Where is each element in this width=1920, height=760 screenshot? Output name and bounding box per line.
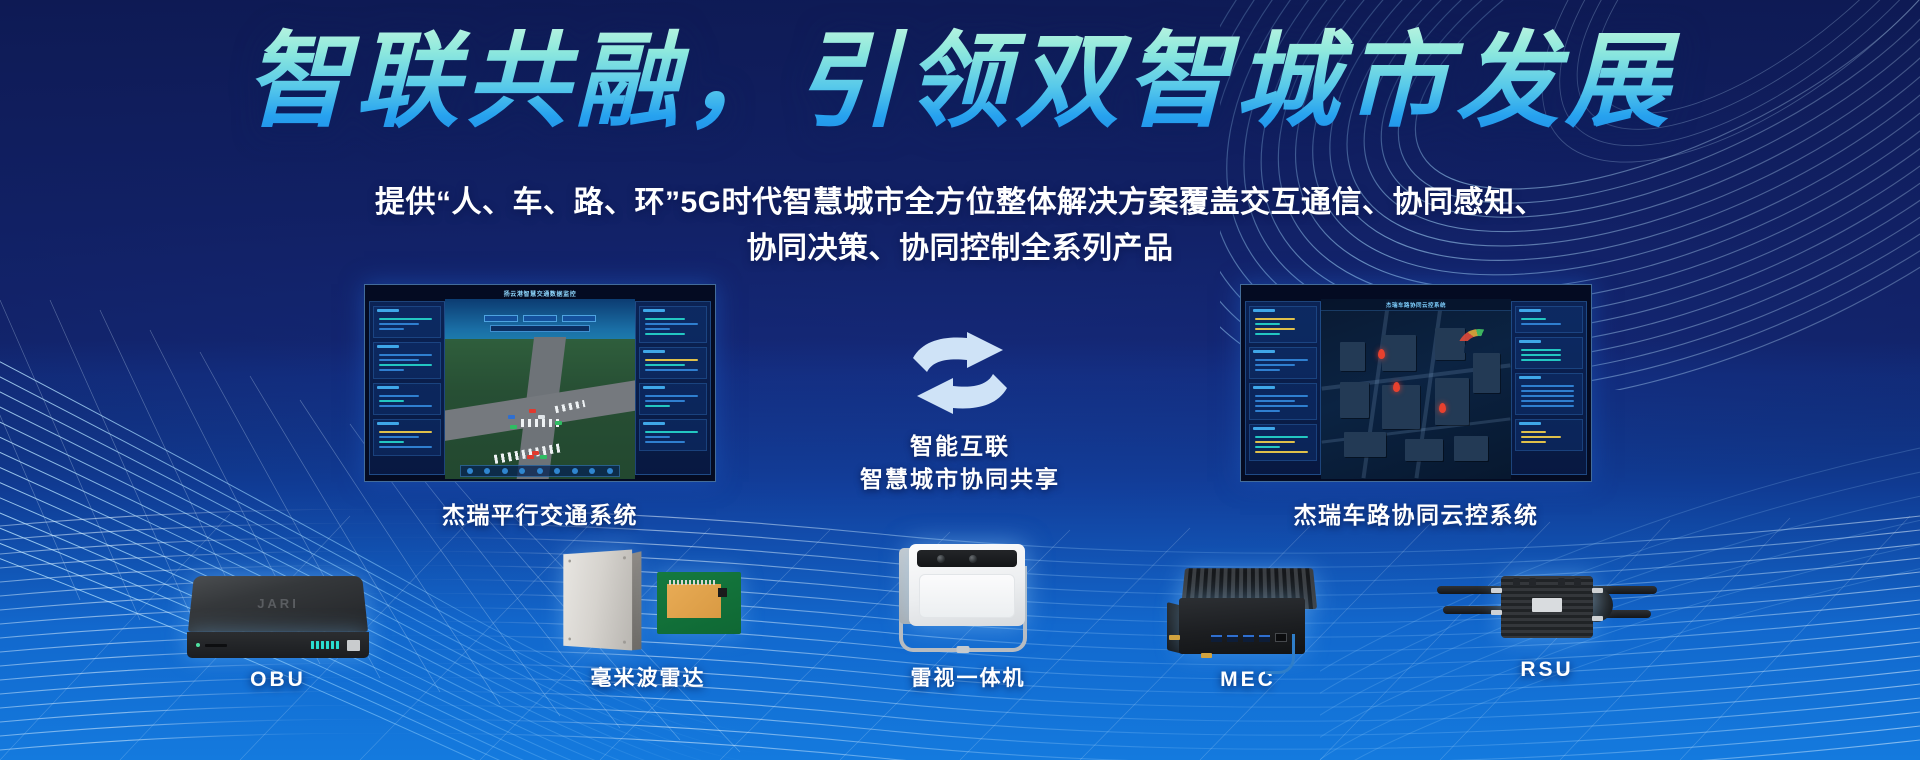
rsu-connector — [1592, 616, 1603, 621]
power-led-icon — [196, 643, 200, 647]
screenshot-parallel-traffic-system[interactable]: 扬云港智慧交通数据监控 — [364, 284, 716, 482]
sidebar-card[interactable] — [639, 306, 707, 343]
screen-toolbar[interactable] — [475, 315, 604, 341]
sim-slot — [205, 644, 227, 647]
page-title: 智联共融，引领双智城市发展 — [0, 26, 1920, 138]
dock-icon[interactable] — [467, 468, 473, 474]
map-building-block — [1344, 432, 1386, 457]
rsu-device-image — [1437, 566, 1657, 650]
radar-pcb-board — [657, 572, 741, 634]
dock-icon[interactable] — [572, 468, 578, 474]
page-subtitle: 提供“人、车、路、环”5G时代智慧城市全方位整体解决方案覆盖交互通信、协同感知、… — [260, 180, 1660, 271]
toolbar-chips[interactable] — [484, 315, 596, 322]
vehicle-marker — [555, 421, 562, 425]
chip-road-condition[interactable] — [523, 315, 557, 322]
bracket-knob — [957, 646, 970, 653]
sidebar-card[interactable] — [639, 383, 707, 415]
screen-dock-toolbar[interactable] — [460, 465, 620, 477]
banner-stage: 智联共融，引领双智城市发展 提供“人、车、路、环”5G时代智慧城市全方位整体解决… — [0, 0, 1920, 760]
obu-brand-logo: JARI — [257, 596, 299, 611]
flow-stats-card[interactable] — [1249, 424, 1317, 461]
map-building-block — [1405, 439, 1443, 461]
sidebar-card[interactable] — [639, 419, 707, 451]
mec-device-image — [1167, 564, 1329, 660]
camera-lens-icon — [969, 555, 977, 563]
product-radar-camera-unit[interactable]: 雷视一体机 — [868, 542, 1068, 692]
product-row: JARI OBU — [0, 480, 1920, 760]
dock-icon[interactable] — [519, 468, 525, 474]
intersection-3d-view — [445, 299, 635, 479]
screen-title-left: 扬云港智慧交通数据监控 — [504, 289, 577, 298]
swap-arrows-icon — [905, 332, 1015, 414]
antenna-connector-icon — [1169, 635, 1180, 640]
center-text-line-1: 智能互联 — [810, 430, 1110, 463]
assessment-card[interactable] — [1515, 306, 1583, 333]
obu-front-panel — [187, 632, 369, 658]
right-panel-left-sidebar[interactable] — [1245, 301, 1321, 475]
dock-icon[interactable] — [589, 468, 595, 474]
product-label-radar-camera: 雷视一体机 — [868, 662, 1068, 692]
product-label-obu: OBU — [178, 668, 378, 692]
radar-housing — [563, 550, 632, 651]
rsu-connector — [1491, 588, 1502, 593]
radar-camera-image — [893, 542, 1043, 654]
sidebar-card[interactable] — [373, 383, 441, 415]
screen-search-input[interactable] — [490, 325, 590, 332]
center-exchange-block: 智能互联 智慧城市协同共享 — [810, 332, 1110, 495]
usb-port-icon — [1243, 635, 1254, 642]
congestion-stats-card[interactable] — [1249, 383, 1317, 420]
screenshot-cloud-control-system[interactable]: 杰瑞车路协同云控系统 — [1240, 284, 1592, 482]
screen-topbar[interactable]: 杰瑞车路协同云控系统 — [1321, 299, 1511, 311]
chip-vehicle-status[interactable] — [562, 315, 596, 322]
rsu-label-plate — [1532, 598, 1562, 612]
map-building-block — [1454, 436, 1488, 461]
product-label-mmwave-radar: 毫米波雷达 — [548, 662, 748, 692]
usb-port-icon — [1211, 635, 1222, 642]
obu-device-image: JARI — [185, 568, 371, 660]
ethernet-port-icon — [347, 640, 360, 651]
rsu-connector — [1592, 588, 1603, 593]
map-incident-pin[interactable] — [1393, 382, 1400, 392]
sidebar-card[interactable] — [373, 419, 441, 456]
map-building-block — [1340, 382, 1369, 418]
map-incident-pin[interactable] — [1439, 403, 1446, 413]
map-building-block — [1473, 353, 1500, 393]
weather-card[interactable] — [1249, 347, 1317, 379]
mec-power-cable — [1265, 634, 1295, 674]
right-panel-right-sidebar[interactable] — [1511, 301, 1587, 475]
product-obu[interactable]: JARI OBU — [178, 568, 378, 692]
product-mec[interactable]: MEC — [1148, 564, 1348, 692]
map-building-block — [1382, 385, 1420, 428]
vehicle-marker — [510, 425, 517, 429]
city-3d-map-view: 杰瑞车路协同云控系统 — [1321, 299, 1511, 479]
rsu-enclosure — [1501, 576, 1593, 638]
map-building-block — [1435, 378, 1469, 425]
vehicle-marker — [527, 455, 534, 459]
vehicle-marker — [529, 409, 536, 413]
camera-sensor-bar — [917, 550, 1017, 567]
screen-title-right: 杰瑞车路协同云控系统 — [1386, 301, 1446, 309]
radar-antenna-patch — [667, 584, 721, 618]
flow-comparison-card[interactable] — [1515, 419, 1583, 451]
camera-body — [909, 544, 1025, 626]
rsu-connector — [1491, 610, 1502, 615]
map-building-block — [1382, 335, 1416, 371]
antenna-connector-icon — [1201, 653, 1212, 658]
right-sidebar-panel[interactable] — [635, 301, 711, 475]
sidebar-card[interactable] — [373, 342, 441, 379]
chip-vehicle-trajectory[interactable] — [484, 315, 518, 322]
product-label-rsu: RSU — [1432, 658, 1662, 682]
dock-icon[interactable] — [537, 468, 543, 474]
status-legend-card[interactable] — [1515, 337, 1583, 369]
dock-icon[interactable] — [554, 468, 560, 474]
kpi-card[interactable] — [1249, 306, 1317, 343]
map-building-block — [1340, 342, 1365, 371]
product-label-mec: MEC — [1148, 668, 1348, 692]
subtitle-line-2: 协同决策、协同控制全系列产品 — [260, 226, 1660, 272]
radar-chip — [718, 588, 727, 597]
radar-solder-pads — [669, 580, 717, 585]
subtitle-line-1: 提供“人、车、路、环”5G时代智慧城市全方位整体解决方案覆盖交互通信、协同感知、 — [260, 180, 1660, 226]
sidebar-card[interactable] — [639, 347, 707, 379]
camera-lens-icon — [937, 555, 945, 563]
dock-icon[interactable] — [502, 468, 508, 474]
ranking-table-card[interactable] — [1515, 373, 1583, 415]
mmwave-radar-image — [553, 550, 743, 654]
product-rsu[interactable]: RSU — [1432, 566, 1662, 682]
radar-housing-edge — [632, 551, 641, 650]
vehicle-marker — [508, 415, 515, 419]
dock-icon[interactable] — [607, 468, 613, 474]
status-led-group — [311, 641, 339, 649]
dock-icon[interactable] — [484, 468, 490, 474]
mec-body — [1179, 598, 1305, 654]
vehicle-marker — [540, 455, 547, 459]
usb-port-icon — [1227, 635, 1238, 642]
sidebar-card[interactable] — [373, 306, 441, 338]
product-mmwave-radar[interactable]: 毫米波雷达 — [548, 550, 748, 692]
camera-front-face — [919, 574, 1015, 618]
vehicle-marker — [538, 415, 545, 419]
left-sidebar-panel[interactable] — [369, 301, 445, 475]
